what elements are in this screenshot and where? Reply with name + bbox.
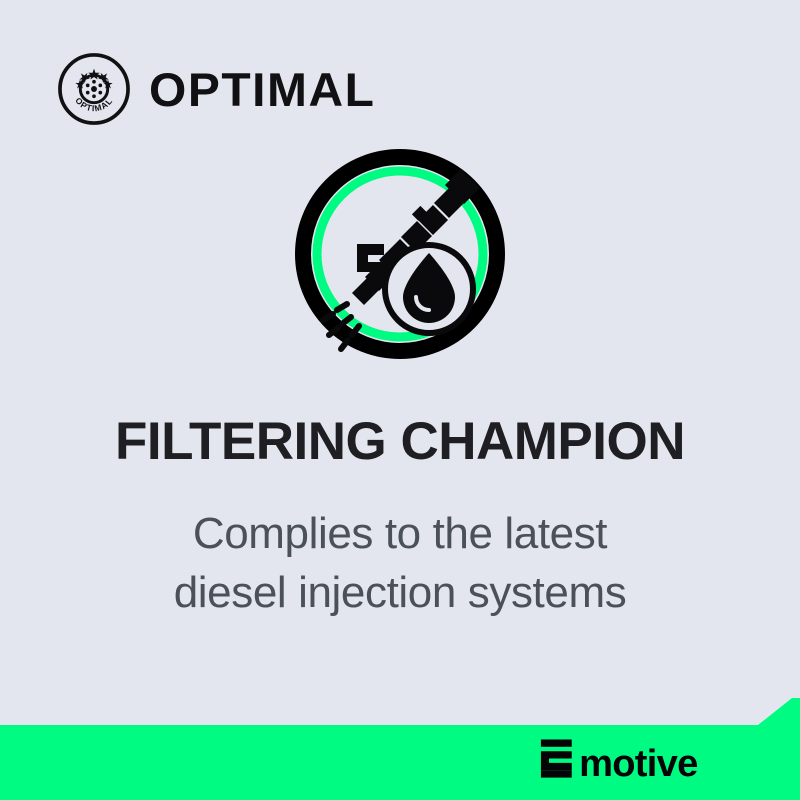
hero-medallion — [295, 149, 505, 359]
promo-poster: OPTIMAL OPTIMAL — [0, 0, 800, 800]
brand-lockup: OPTIMAL OPTIMAL — [57, 52, 371, 126]
page-title: FILTERING CHAMPION — [0, 414, 800, 470]
page-subtitle-line-1: Complies to the latest — [0, 505, 800, 564]
optimal-seal-text: OPTIMAL — [73, 95, 115, 113]
emotive-wordmark-text: motive — [579, 742, 697, 782]
svg-text:OPTIMAL: OPTIMAL — [73, 95, 115, 113]
emotive-wordmark-icon: motive — [538, 738, 758, 782]
optimal-seal-icon: OPTIMAL — [57, 52, 131, 126]
page-subtitle-line-2: diesel injection systems — [0, 564, 800, 623]
brand-wordmark: OPTIMAL — [149, 66, 375, 113]
page-subtitle: Complies to the latest diesel injection … — [0, 505, 800, 622]
